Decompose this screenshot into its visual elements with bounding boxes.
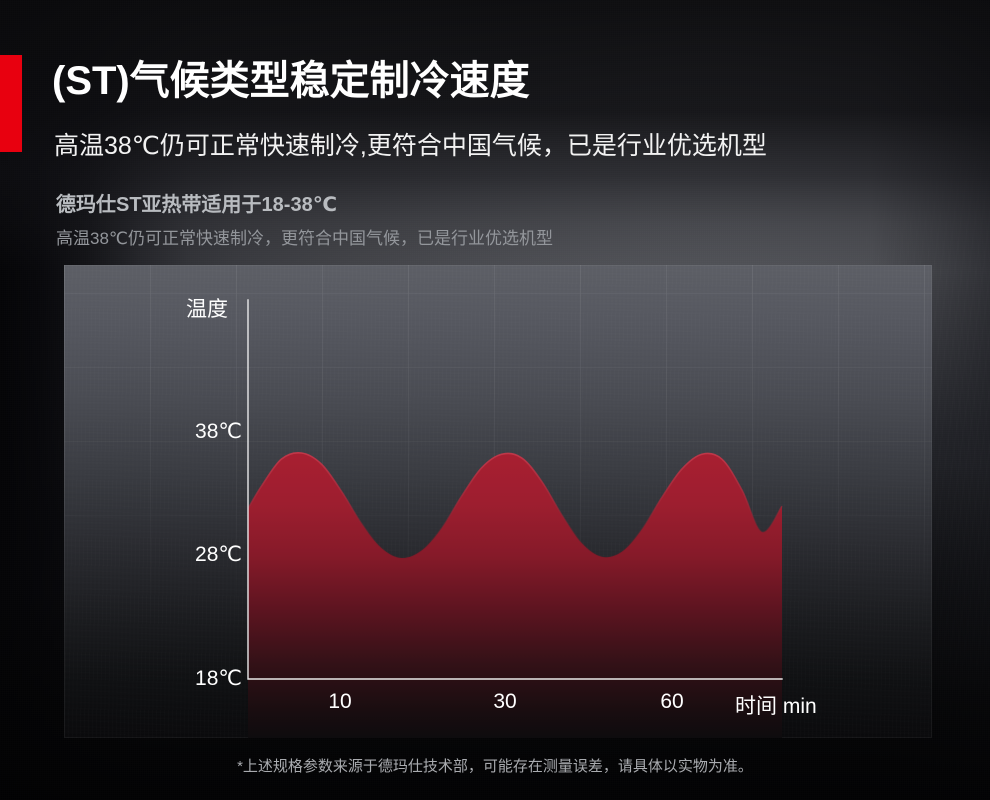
y-axis-tick-38: 38℃ <box>172 419 242 444</box>
product-detail-page: (ST)气候类型稳定制冷速度 高温38℃仍可正常快速制冷,更符合中国气候，已是行… <box>0 0 990 800</box>
x-axis-title: 时间 min <box>735 690 835 720</box>
x-axis-tick-30: 30 <box>475 690 535 714</box>
footnote: *上述规格参数来源于德玛仕技术部，可能存在测量误差，请具体以实物为准。 <box>0 755 990 776</box>
section-description: 高温38℃仍可正常快速制冷，更符合中国气候，已是行业优选机型 <box>56 224 553 249</box>
x-axis-tick-60: 60 <box>642 690 702 714</box>
page-title: (ST)气候类型稳定制冷速度 <box>52 48 530 106</box>
y-axis-tick-18: 18℃ <box>172 666 242 691</box>
accent-bar <box>0 55 22 152</box>
header-section: (ST)气候类型稳定制冷速度 高温38℃仍可正常快速制冷,更符合中国气候，已是行… <box>0 0 990 262</box>
x-axis-tick-10: 10 <box>310 690 370 714</box>
y-axis-tick-28: 28℃ <box>172 542 242 567</box>
page-subtitle: 高温38℃仍可正常快速制冷,更符合中国气候，已是行业优选机型 <box>54 126 767 162</box>
y-axis-title: 温度 <box>186 293 228 323</box>
section-heading: 德玛仕ST亚热带适用于18-38℃ <box>56 188 337 217</box>
